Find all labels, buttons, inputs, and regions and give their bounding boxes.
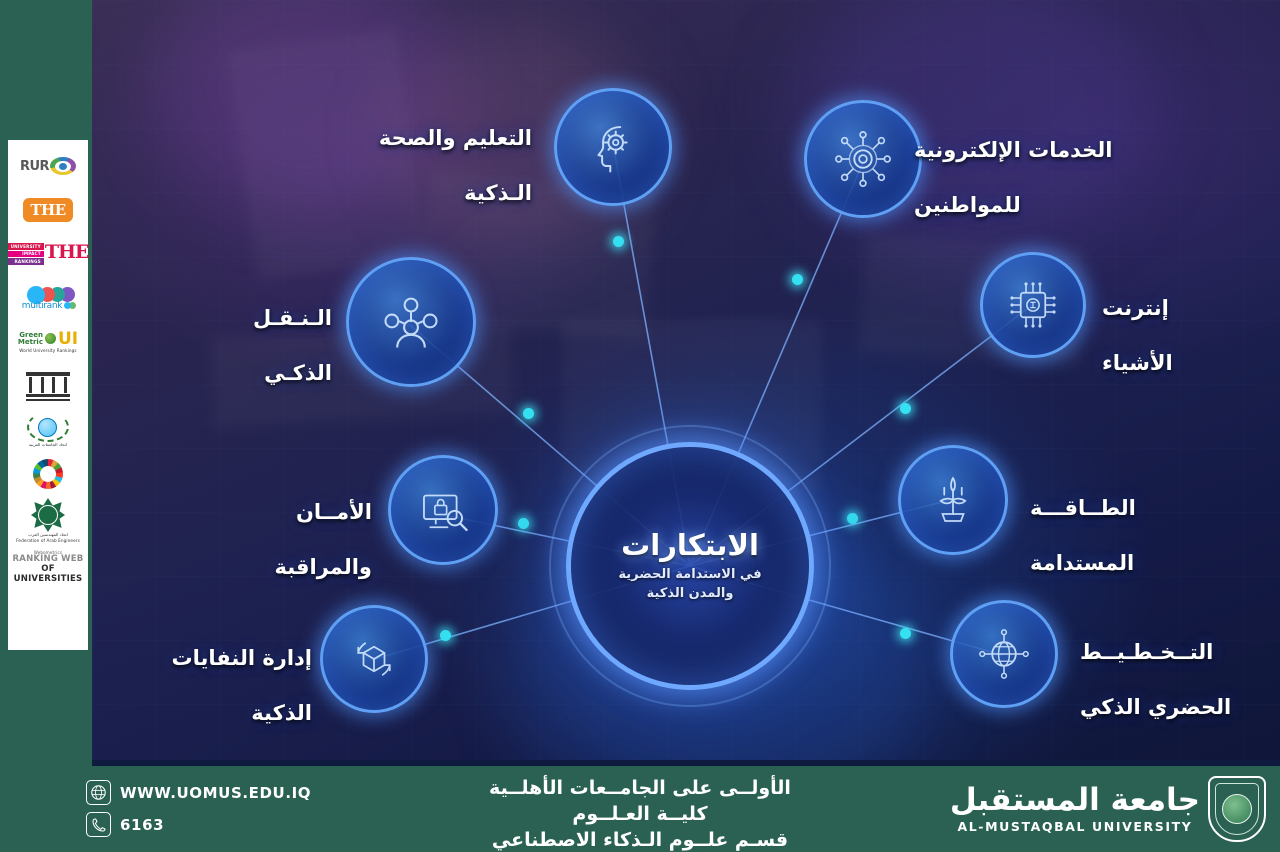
label-line2: المستدامة bbox=[1030, 550, 1270, 577]
label-line1: الخدمات الإلكترونية bbox=[914, 137, 1244, 164]
globe-network-icon bbox=[975, 625, 1033, 683]
energy-plant-icon bbox=[925, 472, 981, 528]
node-smart-waste-management[interactable] bbox=[320, 605, 428, 713]
label-line1: الطــاقـــة bbox=[1030, 495, 1270, 522]
label-line1: التعليم والصحة bbox=[242, 125, 532, 152]
connector-dot-5 bbox=[518, 518, 529, 529]
connector-dot-8 bbox=[900, 628, 911, 639]
label-smart-urban-planning: التــخـطـيــط الحضري الذكي bbox=[1080, 612, 1280, 748]
label-line2: الـذكية bbox=[242, 180, 532, 207]
node-smart-transport[interactable] bbox=[346, 257, 476, 387]
logo-the-impact-rankings: THE UNIVERSITY IMPACT RANKINGS bbox=[10, 234, 86, 274]
webometrics-line2: OF UNIVERSITIES bbox=[10, 564, 86, 584]
the-impact-line1: UNIVERSITY bbox=[8, 243, 44, 249]
node-sustainable-energy[interactable] bbox=[898, 445, 1008, 555]
label-e-services-citizens: الخدمات الإلكترونية للمواطنين bbox=[914, 110, 1244, 246]
arab-universities-caption: اتحاد الجامعات العربية bbox=[29, 443, 67, 448]
wreath-globe-icon bbox=[27, 412, 69, 442]
people-network-icon bbox=[377, 288, 445, 356]
rur-eye-icon bbox=[50, 157, 76, 175]
footer-website-row[interactable]: WWW.UOMUS.EDU.IQ bbox=[86, 780, 311, 805]
globe-www-icon bbox=[86, 780, 111, 805]
footer-center-line2: كليــة العـلــوم bbox=[489, 801, 791, 827]
arab-engineers-caption-en: Federation of Arab Engineers bbox=[16, 539, 80, 544]
label-smart-education-health: التعليم والصحة الـذكية bbox=[242, 98, 532, 234]
node-smart-urban-planning[interactable] bbox=[950, 600, 1058, 708]
multirank-wordmark: multirank bbox=[22, 301, 62, 311]
temple-building-icon bbox=[26, 372, 70, 401]
infographic-root: RUR THE THE UNIVERSITY IMPACT RANKINGS bbox=[0, 0, 1280, 852]
footer-phone-text: 6163 bbox=[120, 816, 164, 834]
connector-dot-2 bbox=[792, 274, 803, 285]
connector-dot-6 bbox=[847, 513, 858, 524]
rur-wordmark: RUR bbox=[20, 159, 49, 174]
label-line2: الذكـي bbox=[122, 360, 332, 387]
connector-dot-3 bbox=[523, 408, 534, 419]
greenmetric-ui-mark: UI bbox=[58, 331, 78, 348]
brand-name-arabic: جامعة المستقبل bbox=[950, 785, 1200, 816]
label-line1: الأمــان bbox=[152, 499, 372, 526]
phone-icon bbox=[86, 812, 111, 837]
logo-federation-arab-engineers: اتحاد المهندسين العرب Federation of Arab… bbox=[10, 498, 86, 543]
node-e-services-citizens[interactable] bbox=[804, 100, 922, 218]
connector-dot-7 bbox=[440, 630, 451, 641]
label-sustainable-energy: الطــاقـــة المستدامة bbox=[1030, 468, 1270, 604]
greenmetric-caption: World University Rankings bbox=[19, 349, 76, 354]
recycle-box-icon bbox=[346, 631, 402, 687]
sdg-wheel-icon bbox=[33, 459, 63, 489]
logo-ministry-education bbox=[10, 366, 86, 406]
connector-dot-1 bbox=[613, 236, 624, 247]
footer-contact-block: WWW.UOMUS.EDU.IQ 6163 bbox=[86, 780, 311, 837]
node-internet-of-things[interactable] bbox=[980, 252, 1086, 358]
accreditation-sidebar: RUR THE THE UNIVERSITY IMPACT RANKINGS bbox=[0, 0, 92, 852]
label-line1: إدارة النفايات bbox=[97, 645, 312, 672]
label-smart-transport: الـنـقـل الذكـي bbox=[122, 278, 332, 414]
label-line2: الأشياء bbox=[1102, 350, 1272, 377]
network-hub-icon bbox=[832, 128, 894, 190]
arab-engineers-star-icon bbox=[31, 498, 65, 532]
the-impact-line2: IMPACT bbox=[8, 251, 44, 257]
logo-the-ranking: THE bbox=[10, 190, 86, 230]
shield-emblem-icon bbox=[1208, 776, 1266, 842]
label-line1: الـنـقـل bbox=[122, 305, 332, 332]
logo-webometrics: Webometrics RANKING WEB OF UNIVERSITIES bbox=[10, 547, 86, 587]
the-wordmark: THE bbox=[23, 198, 72, 222]
connector-dot-4 bbox=[900, 403, 911, 414]
logo-sdg-wheel bbox=[10, 454, 86, 494]
label-line1: التــخـطـيــط bbox=[1080, 639, 1280, 666]
node-smart-education-health[interactable] bbox=[554, 88, 672, 206]
logo-rur-ranking: RUR bbox=[10, 146, 86, 186]
webometrics-line1: RANKING WEB bbox=[10, 555, 86, 564]
label-line2: للمواطنين bbox=[914, 192, 1244, 219]
monitor-lock-search-icon bbox=[414, 481, 472, 539]
footer-website-text: WWW.UOMUS.EDU.IQ bbox=[120, 784, 311, 802]
infographic-canvas: التعليم والصحة الـذكية bbox=[92, 0, 1280, 766]
footer-center-line1: الأولــى على الجامــعات الأهلــية bbox=[489, 775, 791, 801]
page-footer: WWW.UOMUS.EDU.IQ 6163 الأولــى على الجام… bbox=[0, 766, 1280, 852]
the-impact-line3: RANKINGS bbox=[8, 258, 44, 264]
label-line2: الحضري الذكي bbox=[1080, 694, 1280, 721]
hub-subtitle-line2: والمدن الذكية bbox=[618, 585, 761, 604]
greenmetric-globe-icon bbox=[45, 333, 56, 344]
label-smart-waste-management: إدارة النفايات الذكية bbox=[97, 618, 312, 754]
label-safety-surveillance: الأمــان والمراقبة bbox=[152, 472, 372, 608]
label-line2: الذكية bbox=[97, 700, 312, 727]
label-line1: إنترنت bbox=[1102, 295, 1272, 322]
ranking-logos-strip: RUR THE THE UNIVERSITY IMPACT RANKINGS bbox=[8, 140, 88, 650]
hub-subtitle-line1: في الاستدامة الحضرية bbox=[618, 566, 761, 585]
university-brand-block: جامعة المستقبل AL-MUSTAQBAL UNIVERSITY bbox=[950, 776, 1266, 842]
hub-title: الابتكارات bbox=[621, 528, 759, 562]
logo-association-arab-universities: اتحاد الجامعات العربية bbox=[10, 410, 86, 450]
label-line2: والمراقبة bbox=[152, 554, 372, 581]
logo-u-multirank: multirank bbox=[10, 278, 86, 318]
arab-engineers-caption-ar: اتحاد المهندسين العرب bbox=[28, 533, 68, 538]
node-safety-surveillance[interactable] bbox=[388, 455, 498, 565]
brand-name-english: AL-MUSTAQBAL UNIVERSITY bbox=[950, 819, 1200, 834]
footer-phone-row[interactable]: 6163 bbox=[86, 812, 311, 837]
greenmetric-line2: Metric bbox=[18, 339, 43, 346]
label-internet-of-things: إنترنت الأشياء bbox=[1102, 268, 1272, 404]
logo-ui-greenmetric: UI Green Metric World University Ranking… bbox=[10, 322, 86, 362]
microchip-icon bbox=[1005, 277, 1061, 333]
the-impact-wordmark: THE bbox=[45, 243, 89, 264]
footer-department-block: الأولــى على الجامــعات الأهلــية كليــة… bbox=[489, 775, 791, 852]
footer-center-line3: قسـم علــوم الـذكاء الاصطناعي bbox=[489, 827, 791, 852]
multirank-dots-icon bbox=[64, 302, 74, 309]
head-gear-icon bbox=[584, 118, 642, 176]
central-hub[interactable]: الابتكارات في الاستدامة الحضرية والمدن ا… bbox=[566, 442, 814, 690]
